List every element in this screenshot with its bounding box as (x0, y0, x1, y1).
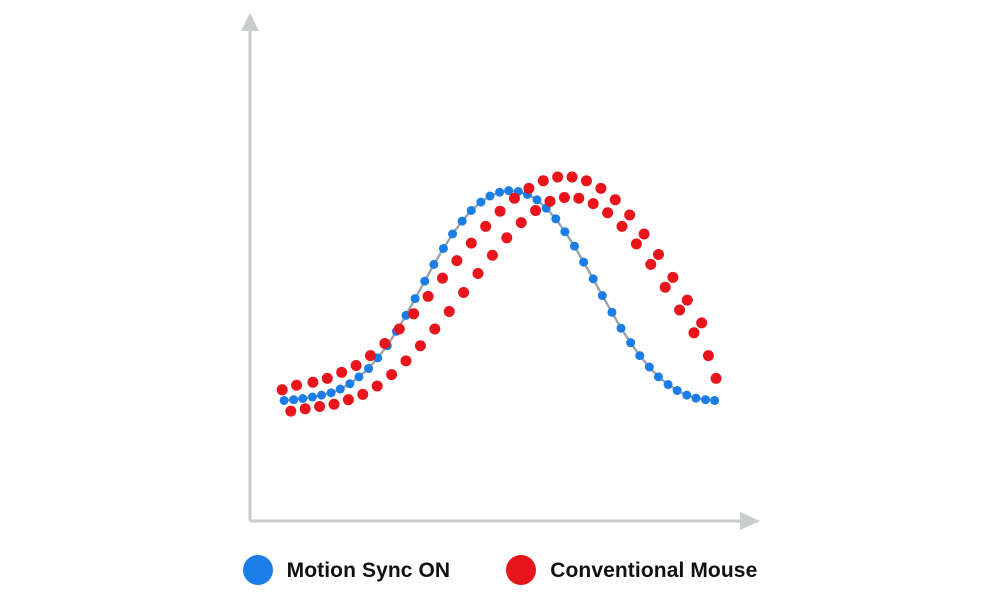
data-point (559, 192, 570, 203)
data-point (691, 394, 700, 403)
data-point (289, 395, 298, 404)
data-point (336, 367, 347, 378)
data-point (327, 388, 336, 397)
data-point (567, 172, 578, 183)
data-point (451, 255, 462, 266)
data-point (364, 364, 373, 373)
axes-group (241, 13, 760, 530)
data-point (357, 389, 368, 400)
data-point (595, 183, 606, 194)
data-point (617, 221, 628, 232)
legend-item-conventional-mouse: Conventional Mouse (506, 555, 757, 585)
data-point (473, 268, 484, 279)
data-point (624, 210, 635, 221)
legend-swatch-blue-icon (243, 555, 273, 585)
data-point (682, 295, 693, 306)
data-point (314, 401, 325, 412)
data-point (664, 380, 673, 389)
data-point (610, 194, 621, 205)
data-point (329, 399, 340, 410)
data-point (654, 372, 663, 381)
data-point (308, 393, 317, 402)
data-point (682, 391, 691, 400)
data-point (476, 198, 485, 207)
data-point (545, 196, 556, 207)
data-point (336, 385, 345, 394)
legend-label-motion-sync-on: Motion Sync ON (287, 560, 451, 581)
data-point (626, 338, 635, 347)
chart-legend: Motion Sync ON Conventional Mouse (0, 546, 1000, 594)
data-point (639, 229, 650, 240)
data-point (579, 258, 588, 267)
data-point (486, 192, 495, 201)
data-point (343, 394, 354, 405)
chart-container: Motion Sync ON Conventional Mouse (0, 0, 1000, 600)
data-point (307, 377, 318, 388)
data-point (696, 317, 707, 328)
data-point (653, 249, 664, 260)
data-point (298, 394, 307, 403)
data-point (710, 396, 719, 405)
data-point (552, 172, 563, 183)
data-point (495, 206, 506, 217)
data-point (560, 227, 569, 236)
data-point (280, 396, 289, 405)
data-point (351, 360, 362, 371)
data-point (667, 272, 678, 283)
data-point (466, 238, 477, 249)
data-point (602, 207, 613, 218)
data-point (645, 363, 654, 372)
data-point (458, 287, 469, 298)
data-point (598, 291, 607, 300)
data-point (354, 372, 363, 381)
data-point (501, 232, 512, 243)
data-point (530, 205, 541, 216)
data-point (408, 308, 419, 319)
data-point (420, 277, 429, 286)
data-point (386, 369, 397, 380)
series-conventional-mouse (277, 172, 722, 417)
data-point (523, 183, 534, 194)
data-point (423, 291, 434, 302)
data-point (607, 308, 616, 317)
x-axis-arrow-icon (740, 512, 760, 530)
data-point (516, 217, 527, 228)
data-point (487, 250, 498, 261)
data-point (495, 188, 504, 197)
data-point (437, 273, 448, 284)
data-point (573, 193, 584, 204)
data-point (588, 198, 599, 209)
data-point (277, 384, 288, 395)
data-point (589, 274, 598, 283)
data-point (635, 351, 644, 360)
data-point (444, 306, 455, 317)
data-point (509, 193, 520, 204)
data-point (673, 386, 682, 395)
data-point (291, 380, 302, 391)
data-point (570, 242, 579, 251)
data-point (458, 217, 467, 226)
data-point (439, 244, 448, 253)
data-point (322, 373, 333, 384)
data-point (711, 373, 722, 384)
data-point (401, 355, 412, 366)
data-point (394, 324, 405, 335)
data-point (448, 230, 457, 239)
data-point (379, 338, 390, 349)
legend-item-motion-sync-on: Motion Sync ON (243, 555, 451, 585)
data-point (533, 195, 542, 204)
data-point (285, 406, 296, 417)
data-point (551, 214, 560, 223)
chart-plot-area (0, 0, 1000, 600)
data-point (581, 175, 592, 186)
data-point (300, 403, 311, 414)
data-point (317, 391, 326, 400)
data-point (617, 324, 626, 333)
data-point (429, 324, 440, 335)
data-point (480, 221, 491, 232)
data-point (703, 350, 714, 361)
data-point (429, 260, 438, 269)
data-point (689, 327, 700, 338)
data-point (645, 259, 656, 270)
y-axis-arrow-icon (241, 13, 259, 31)
legend-label-conventional-mouse: Conventional Mouse (550, 560, 757, 581)
data-point (415, 340, 426, 351)
data-point (538, 175, 549, 186)
data-point (631, 238, 642, 249)
data-point (674, 305, 685, 316)
data-point (365, 350, 376, 361)
data-point (411, 294, 420, 303)
data-point (467, 206, 476, 215)
data-point (372, 381, 383, 392)
legend-swatch-red-icon (506, 555, 536, 585)
data-series-layer (277, 172, 722, 417)
data-point (660, 282, 671, 293)
data-point (345, 379, 354, 388)
data-point (701, 395, 710, 404)
